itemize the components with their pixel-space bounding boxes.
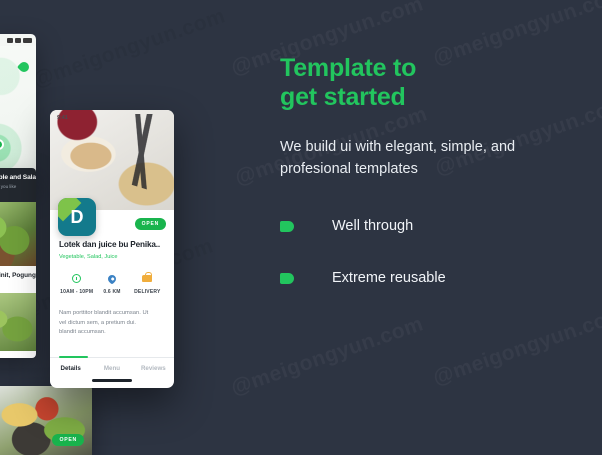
restaurant-description: Nam porttitor blandit accumsan. Ut vel d… <box>59 309 165 338</box>
list-item: Well through <box>280 214 590 238</box>
headline-line-2: get started <box>280 83 590 112</box>
signal-icon <box>7 38 13 43</box>
home-indicator <box>92 379 132 382</box>
list-caption-title: geng ninit, Pogung <box>0 272 32 279</box>
status-badge: OPEN <box>52 434 84 446</box>
tab-details[interactable]: Details <box>50 358 91 372</box>
page-title: Template to get started <box>280 54 590 112</box>
info-hours-label: 10AM - 10PM <box>60 289 93 295</box>
status-bar <box>0 34 36 43</box>
tab-reviews[interactable]: Reviews <box>133 358 174 372</box>
description-line: Nam porttitor blandit accumsan. Ut <box>59 309 165 319</box>
restaurant-detail-phone-card[interactable]: 9:41 D OPEN Lotek dan juice bu Penika.. … <box>50 110 174 388</box>
info-hours: 10AM - 10PM <box>59 273 94 295</box>
list-banner-title: Vegetable and Salad <box>0 174 32 181</box>
clock-icon <box>72 273 81 284</box>
feature-label: Extreme reusable <box>332 270 446 286</box>
active-tab-indicator <box>59 356 88 358</box>
watermark: @meigongyun.com <box>30 4 229 92</box>
info-distance-label: 0.6 KM <box>103 289 120 295</box>
feature-list: Well through Extreme reusable <box>280 214 590 290</box>
page-subtitle: We build ui with elegant, simple, and pr… <box>280 136 580 180</box>
restaurant-title: Lotek dan juice bu Penika.. <box>59 240 165 249</box>
list-item: Extreme reusable <box>280 266 590 290</box>
bullet-flag-icon <box>280 273 294 284</box>
watermark: @meigongyun.com <box>228 312 427 400</box>
info-row: 10AM - 10PM 0.6 KM DELIVERY <box>59 273 165 295</box>
slide-canvas: @meigongyun.com @meigongyun.com @meigong… <box>0 0 602 455</box>
headline-line-1: Template to <box>280 54 590 83</box>
wifi-icon <box>15 38 21 43</box>
delivery-bag-icon <box>142 273 152 284</box>
list-banner-subtitle: every food you like <box>0 184 32 189</box>
description-line: vel dictum sem, a pretium dui. <box>59 319 165 329</box>
open-status-badge: OPEN <box>135 218 166 230</box>
list-caption: geng ninit, Pogung jakarta <box>0 266 36 293</box>
subcopy-line-1: We build ui with elegant, simple, and <box>280 136 580 158</box>
tab-menu[interactable]: Menu <box>91 358 132 372</box>
text-panel: Template to get started We build ui with… <box>280 54 590 318</box>
list-photo <box>0 202 36 266</box>
status-bar-time: 9:41 <box>57 115 68 121</box>
subcopy-line-2: profesional templates <box>280 158 580 180</box>
battery-icon <box>23 38 32 43</box>
restaurant-tags: Vegetable, Salad, Juice <box>59 254 165 260</box>
info-delivery: DELIVERY <box>130 273 165 295</box>
feature-label: Well through <box>332 218 413 234</box>
tab-bar: Details Menu Reviews <box>50 357 174 372</box>
info-distance: 0.6 KM <box>94 273 129 295</box>
vegetable-list-card[interactable]: Vegetable and Salad every food you like … <box>0 168 36 358</box>
food-photo-card[interactable]: OPEN <box>0 386 92 455</box>
description-line: blandit accumsan. <box>59 328 165 338</box>
hero-image: 9:41 <box>50 110 174 210</box>
restaurant-logo: D <box>58 198 96 236</box>
logo-letter: D <box>71 207 84 228</box>
map-screen-card[interactable] <box>0 34 36 184</box>
list-banner: Vegetable and Salad every food you like <box>0 168 36 202</box>
info-delivery-label: DELIVERY <box>134 289 160 295</box>
location-pin-icon <box>108 273 116 284</box>
bullet-flag-icon <box>280 221 294 232</box>
list-caption-subtitle: jakarta <box>0 282 32 287</box>
list-photo-secondary <box>0 293 36 351</box>
